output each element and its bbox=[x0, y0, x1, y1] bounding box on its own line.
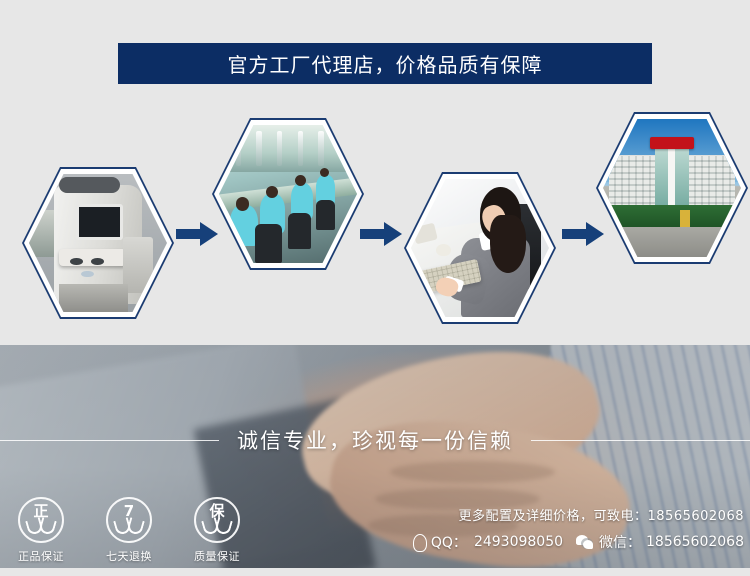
hands-holding-icon: 保 bbox=[194, 497, 240, 543]
machine-base bbox=[59, 284, 128, 312]
factory-lamp bbox=[256, 131, 262, 167]
factory-lamp bbox=[277, 131, 283, 167]
computer-mouse bbox=[436, 244, 451, 256]
badge-label: 质量保证 bbox=[184, 548, 250, 564]
machine-knob bbox=[91, 258, 103, 265]
wechat-icon bbox=[576, 535, 594, 550]
machine-knob bbox=[70, 258, 82, 265]
process-step-service bbox=[404, 172, 556, 324]
headline-banner: 官方工厂代理店，价格品质有保障 bbox=[118, 43, 652, 84]
wechat-number[interactable]: 18565602068 bbox=[646, 534, 744, 550]
arrow-shaft bbox=[562, 229, 588, 239]
tagline-text: 诚信专业，珍视每一份信赖 bbox=[237, 425, 513, 455]
wechat-label: 微信： bbox=[599, 532, 641, 552]
badge-label: 正品保证 bbox=[8, 548, 74, 564]
factory-lamp bbox=[298, 131, 304, 167]
hands-shape bbox=[204, 520, 230, 534]
guarantee-badge-quality: 保 质量保证 bbox=[184, 497, 250, 564]
arrow-shaft bbox=[176, 229, 202, 239]
machine-top-unit bbox=[59, 177, 120, 194]
qq-label: QQ： bbox=[431, 532, 467, 552]
machine-monitor bbox=[76, 204, 123, 240]
arrow-head bbox=[384, 222, 402, 246]
badge-character: 7 bbox=[108, 504, 150, 519]
badge-label: 七天退换 bbox=[96, 548, 162, 564]
building-rooftop-sign bbox=[650, 137, 694, 149]
process-step-factory bbox=[212, 118, 364, 270]
process-step-equipment bbox=[22, 167, 174, 319]
trees bbox=[603, 205, 741, 227]
tagline-row: 诚信专业，珍视每一份信赖 bbox=[0, 425, 750, 455]
trust-section: 诚信专业，珍视每一份信赖 正 正品保证 7 七天退换 保 质量保证 bbox=[0, 345, 750, 568]
qq-penguin-icon bbox=[412, 534, 426, 551]
worker-head bbox=[236, 197, 250, 211]
qq-number[interactable]: 2493098050 bbox=[474, 534, 563, 550]
hands-holding-icon: 正 bbox=[18, 497, 64, 543]
tagline-rule-right bbox=[531, 440, 750, 441]
arrow-shaft bbox=[360, 229, 386, 239]
factory-chair bbox=[316, 200, 335, 230]
contact-block: 更多配置及详细价格，可致电：18565602068 QQ： 2493098050… bbox=[412, 505, 744, 552]
hands-shape bbox=[28, 520, 54, 534]
contact-im-line: QQ： 2493098050 微信： 18565602068 bbox=[412, 532, 744, 552]
factory-lamp bbox=[318, 131, 324, 167]
process-step-company bbox=[596, 112, 748, 264]
badge-character: 正 bbox=[20, 504, 62, 519]
guarantee-badge-genuine: 正 正品保证 bbox=[8, 497, 74, 564]
guarantee-badge-return: 7 七天退换 bbox=[96, 497, 162, 564]
process-section: 官方工厂代理店，价格品质有保障 bbox=[0, 0, 750, 345]
hands-shape bbox=[116, 520, 142, 534]
arrow-right-icon bbox=[360, 222, 402, 246]
contact-phone-line[interactable]: 更多配置及详细价格，可致电：18565602068 bbox=[412, 505, 744, 524]
guarantee-badges: 正 正品保证 7 七天退换 保 质量保证 bbox=[8, 497, 250, 564]
hair-back bbox=[490, 215, 526, 273]
building-left-wing bbox=[609, 155, 656, 210]
page-title: 官方工厂代理店，价格品质有保障 bbox=[228, 49, 543, 78]
tagline-rule-left bbox=[0, 440, 219, 441]
worker-head bbox=[295, 175, 306, 186]
badge-character: 保 bbox=[196, 504, 238, 519]
factory-chair bbox=[288, 213, 311, 249]
building-stripe bbox=[668, 147, 675, 213]
hands-holding-icon: 7 bbox=[106, 497, 152, 543]
building-right-wing bbox=[689, 155, 736, 210]
bottom-strip bbox=[0, 568, 750, 576]
factory-chair bbox=[255, 224, 283, 263]
